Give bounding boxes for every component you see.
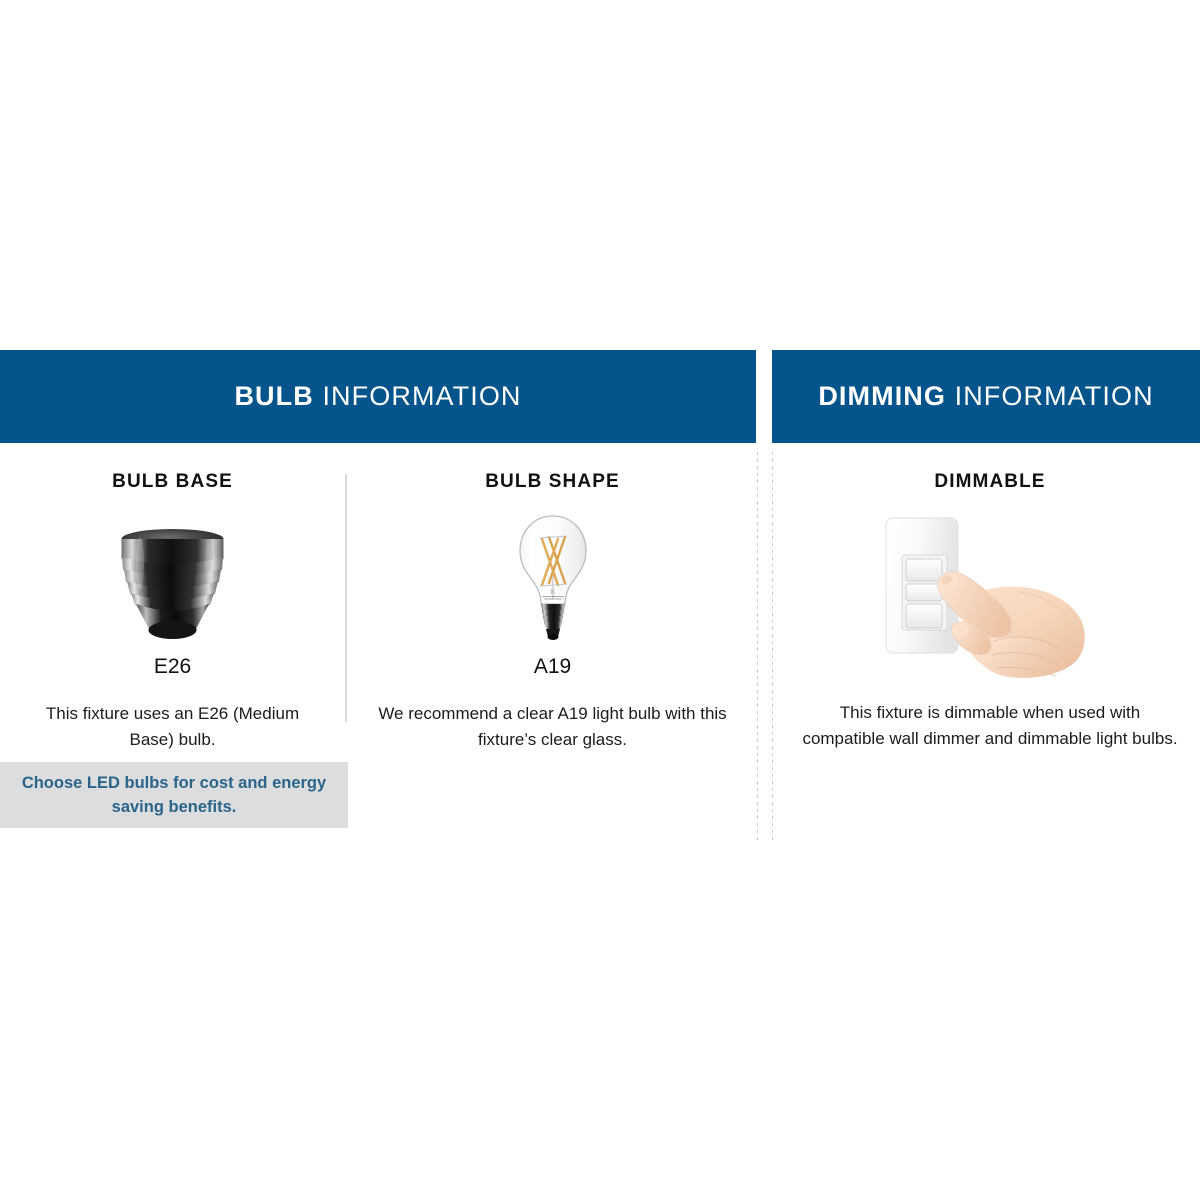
bulb-shape-title: BULB SHAPE <box>360 470 745 494</box>
e26-screw-base-icon <box>0 510 345 645</box>
led-tip-banner: Choose LED bulbs for cost and energy sav… <box>0 762 348 828</box>
bulb-information-header-bar: BULB INFORMATION <box>0 350 756 443</box>
dimming-information-header-title: DIMMING INFORMATION <box>818 381 1153 412</box>
dimming-header-strong: DIMMING <box>818 381 946 411</box>
panel-dotted-divider-left <box>757 452 758 842</box>
bulb-base-title: BULB BASE <box>0 470 345 494</box>
panel-dotted-divider-right <box>772 452 773 842</box>
dimming-information-header-bar: DIMMING INFORMATION <box>772 350 1200 443</box>
bulb-shape-description: We recommend a clear A19 light bulb with… <box>360 701 745 753</box>
wall-dimmer-switch-with-hand-icon <box>780 508 1200 686</box>
bulb-base-column: BULB BASE <box>0 470 345 753</box>
bulb-base-description: This fixture uses an E26 (Medium Base) b… <box>0 701 345 753</box>
bulb-header-strong: BULB <box>234 381 313 411</box>
bulb-information-header-title: BULB INFORMATION <box>234 381 521 412</box>
led-tip-banner-text: Choose LED bulbs for cost and energy sav… <box>0 771 348 819</box>
bulb-header-rest: INFORMATION <box>314 381 522 411</box>
dimmable-title: DIMMABLE <box>780 470 1200 494</box>
bulb-shape-column: BULB SHAPE <box>360 470 745 753</box>
dimming-header-rest: INFORMATION <box>946 381 1154 411</box>
dimmable-column: DIMMABLE <box>780 470 1200 752</box>
bulb-shape-spec-label: A19 <box>360 654 745 680</box>
bulb-and-dimming-information-page: BULB INFORMATION DIMMING INFORMATION BUL… <box>0 0 1200 1200</box>
bulb-base-spec-label: E26 <box>0 654 345 680</box>
bulb-columns-divider <box>345 474 347 722</box>
a19-bulb-icon: K <box>360 510 745 645</box>
svg-text:K: K <box>550 588 555 596</box>
dimmable-description: This fixture is dimmable when used with … <box>780 700 1200 752</box>
